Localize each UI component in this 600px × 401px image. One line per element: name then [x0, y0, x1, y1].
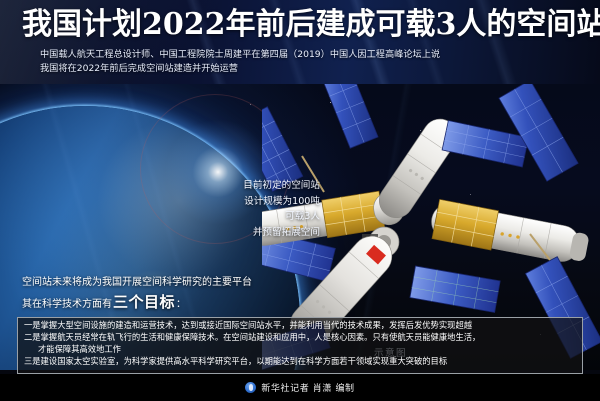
- spec-line-2: 设计规模为100吨: [196, 194, 320, 210]
- goal-item-3: 三是建设国家太空实验室，为科学家提供高水平科学研究平台，以期能达到在科学方面若干…: [24, 356, 576, 368]
- platform-statement: 空间站未来将成为我国开展空间科学研究的主要平台: [22, 273, 252, 293]
- infographic-poster: 我国计划2022年前后建成可载3人的空间站 中国载人航天工程总设计师、中国工程院…: [0, 0, 600, 401]
- goal-item-2: 二是掌握航天员经常在轨飞行的生活和健康保障技术。在空间站建设和应用中，人是核心因…: [24, 332, 576, 344]
- goals-suffix: ：: [176, 294, 186, 316]
- station-module-right: [428, 199, 591, 268]
- solar-panel-far-right-upper: [499, 84, 578, 181]
- truss-gold-right: [432, 199, 499, 250]
- goals-heading: 其在科学技术方面有 三个目标 ：: [22, 291, 186, 316]
- subtitle-block: 中国载人航天工程总设计师、中国工程院院士周建平在第四届（2019）中国人因工程高…: [40, 48, 570, 76]
- xinhua-logo-icon: [245, 382, 256, 393]
- credit-block: 新华社记者 肖潇 编制: [0, 381, 600, 396]
- credit-text: 新华社记者 肖潇 编制: [261, 381, 354, 394]
- page-title: 我国计划2022年前后建成可载3人的空间站: [22, 7, 582, 43]
- spec-line-1: 目前初定的空间站: [196, 178, 320, 194]
- subtitle-line-1: 中国载人航天工程总设计师、中国工程院院士周建平在第四届（2019）中国人因工程高…: [40, 48, 570, 62]
- goals-emphasis: 三个目标: [113, 291, 175, 313]
- goals-box: 一是掌握大型空间设施的建造和运营技术，达到或接近国际空间站水平，并能利用当代的技…: [17, 317, 583, 374]
- spec-line-4: 并预留拓展空间: [196, 225, 320, 241]
- goal-item-2-cont: 才能保障其高效地工作: [24, 344, 576, 356]
- goals-prefix: 其在科学技术方面有: [22, 294, 112, 316]
- footer-bar: 新华社记者 肖潇 编制: [0, 374, 600, 401]
- specs-callout: 目前初定的空间站 设计规模为100吨 可载3人 并预留拓展空间: [196, 178, 320, 240]
- solar-panel-lower-center: [410, 266, 500, 312]
- spec-line-3: 可载3人: [196, 209, 320, 225]
- solar-panel-upper-center: [322, 84, 378, 148]
- subtitle-line-2: 我国将在2022年前后完成空间站建造并开始运营: [40, 62, 570, 76]
- goal-item-1: 一是掌握大型空间设施的建造和运营技术，达到或接近国际空间站水平，并能利用当代的技…: [24, 320, 576, 332]
